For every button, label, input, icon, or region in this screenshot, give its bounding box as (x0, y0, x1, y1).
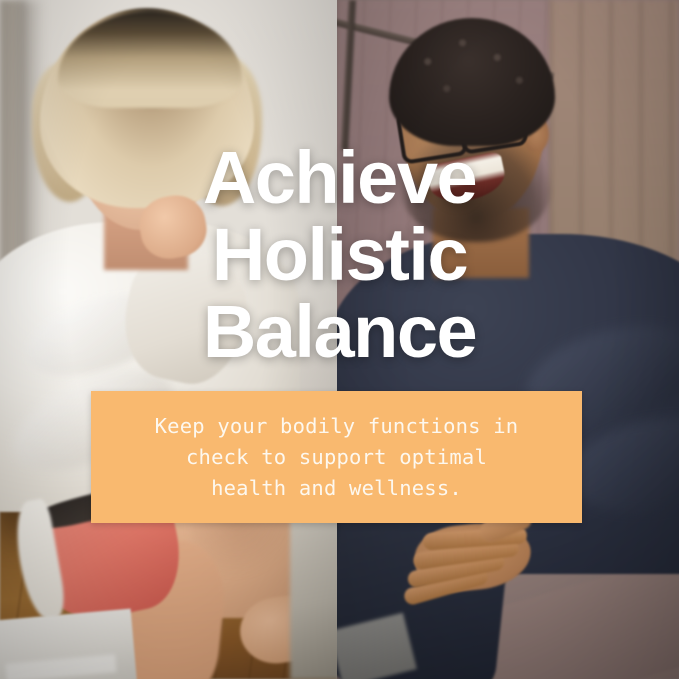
headline-line-3: Balance (0, 293, 679, 370)
headline-line-1: Achieve (0, 139, 679, 216)
headline: Achieve Holistic Balance (0, 139, 679, 370)
poster-canvas: Achieve Holistic Balance Keep your bodil… (0, 0, 679, 679)
caption-line-3: health and wellness. (155, 473, 519, 504)
caption-line-1: Keep your bodily functions in (155, 411, 519, 442)
caption-text: Keep your bodily functions in check to s… (141, 411, 533, 504)
headline-line-2: Holistic (0, 216, 679, 293)
caption-line-2: check to support optimal (155, 442, 519, 473)
caption-box: Keep your bodily functions in check to s… (91, 391, 582, 523)
